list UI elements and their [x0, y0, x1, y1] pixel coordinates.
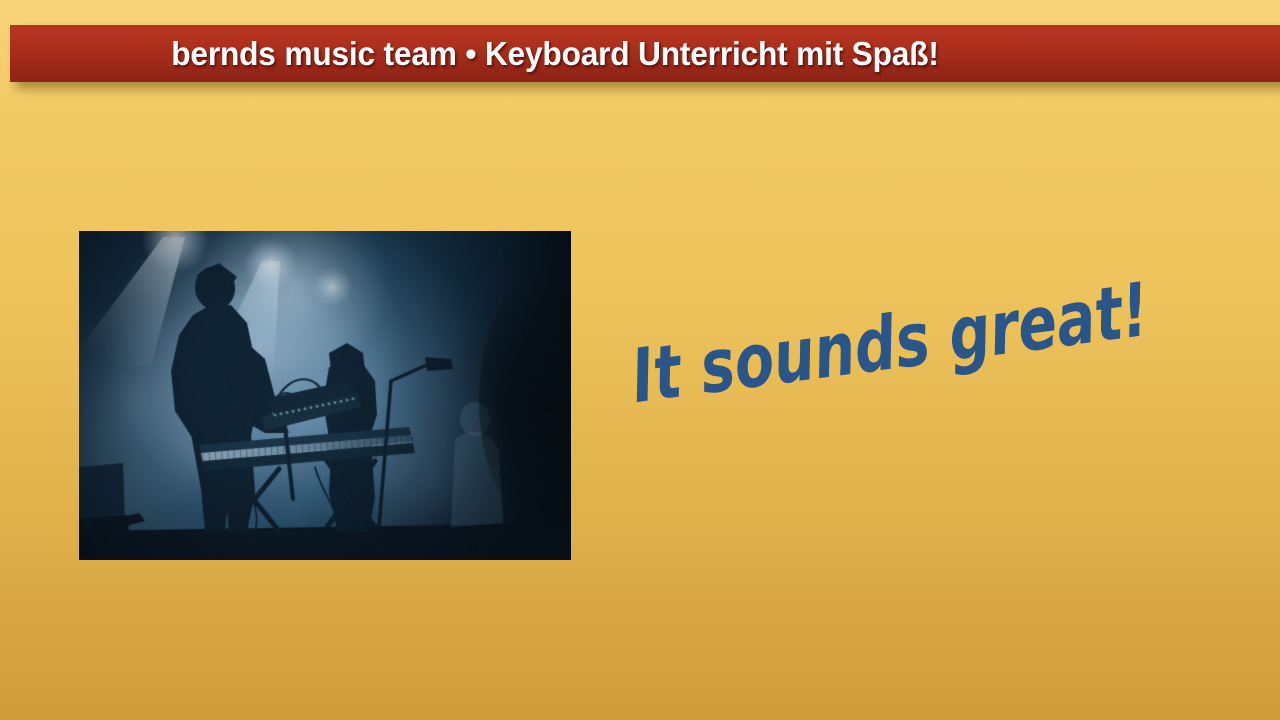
slide-canvas: bernds music team • Keyboard Unterricht …: [0, 0, 1280, 720]
handwritten-caption-text: It sounds great!: [627, 267, 1154, 420]
stage-photo-image: [79, 231, 571, 560]
stage-photo: [79, 231, 571, 560]
title-banner: bernds music team • Keyboard Unterricht …: [10, 25, 1280, 82]
page-title: bernds music team • Keyboard Unterricht …: [32, 35, 1078, 73]
handwritten-caption: It sounds great!: [620, 245, 1171, 434]
